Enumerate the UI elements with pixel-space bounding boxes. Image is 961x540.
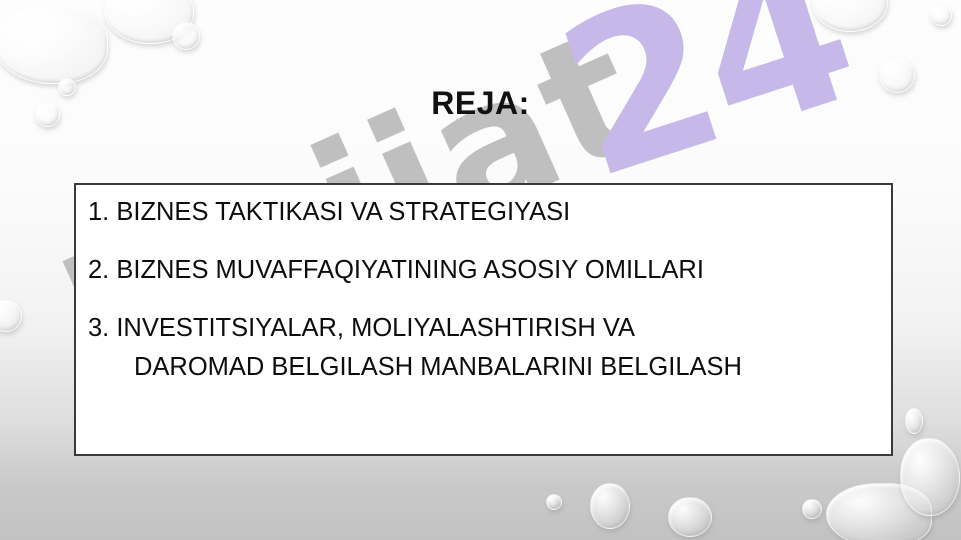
page-title: REJA:: [0, 85, 961, 122]
water-droplet-icon: [172, 22, 200, 50]
water-droplet-icon: [900, 438, 960, 516]
list-item: 1. BIZNES TAKTIKASI VA STRATEGIYASI: [88, 199, 881, 226]
water-droplet-icon: [546, 494, 562, 510]
water-droplet-icon: [590, 483, 630, 529]
list-item: 2. BIZNES MUVAFFAQIYATINING ASOSIY OMILL…: [88, 257, 881, 284]
water-droplet-icon: [905, 408, 923, 434]
water-droplet-icon: [930, 4, 952, 26]
water-droplet-icon: [0, 4, 108, 84]
water-droplet-icon: [0, 300, 22, 332]
agenda-list: 1. BIZNES TAKTIKASI VA STRATEGIYASI 2. B…: [88, 199, 881, 381]
slide-canvas: Hujjat 24 REJA: 1. BIZNES TAKTIKASI VA S…: [0, 0, 961, 540]
water-droplet-icon: [802, 499, 822, 519]
list-item-continuation: DAROMAD BELGILASH MANBALARINI BELGILASH: [134, 354, 881, 381]
water-droplet-icon: [668, 497, 712, 537]
list-item: 3. INVESTITSIYALAR, MOLIYALASHTIRISH VA: [88, 315, 881, 342]
agenda-content-box: 1. BIZNES TAKTIKASI VA STRATEGIYASI 2. B…: [74, 183, 893, 456]
